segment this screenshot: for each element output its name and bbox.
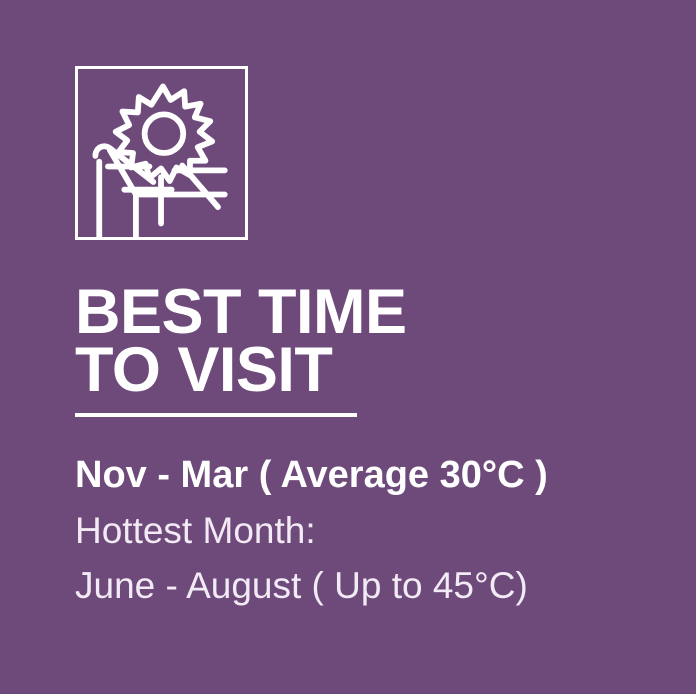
hottest-month-label: Hottest Month:: [75, 503, 685, 558]
page-title: BEST TIME TO VISIT: [75, 283, 635, 399]
best-months-value: Nov - Mar ( Average 30°C ): [75, 448, 685, 503]
hottest-month-value: June - August ( Up to 45°C): [75, 558, 685, 613]
sun-lounger-icon: [78, 69, 245, 237]
page-title-line-1: BEST TIME: [75, 283, 635, 341]
sun-center-icon: [145, 114, 184, 153]
title-divider: [75, 413, 357, 417]
best-time-to-visit-card: BEST TIME TO VISIT Nov - Mar ( Average 3…: [0, 0, 696, 694]
page-title-line-2: TO VISIT: [75, 341, 635, 399]
best-time-details: Nov - Mar ( Average 30°C ) Hottest Month…: [75, 448, 685, 613]
sun-lounger-icon-frame: [75, 66, 248, 240]
